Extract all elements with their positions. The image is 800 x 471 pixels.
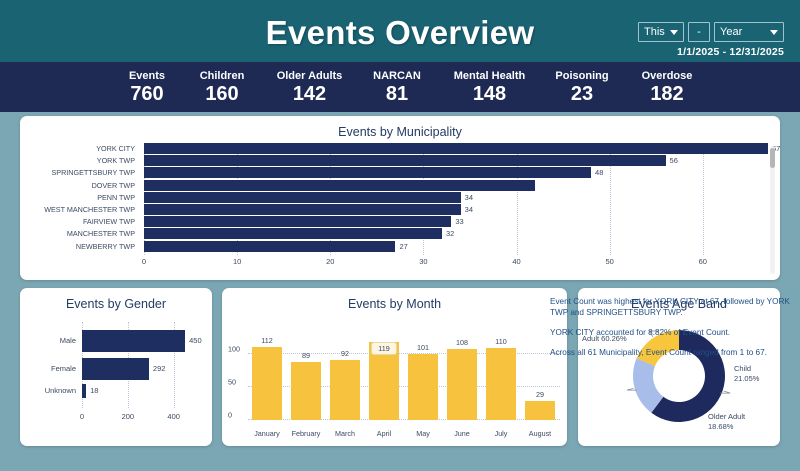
bar-value-label: 48 (595, 167, 603, 178)
category-label: YORK CITY (20, 143, 135, 154)
chevron-down-icon (670, 30, 678, 35)
category-label: MANCHESTER TWP (20, 228, 135, 239)
kpi-strip: Events760Children160Older Adults142NARCA… (0, 62, 800, 112)
bar[interactable] (144, 192, 461, 203)
municipality-scrollbar-thumb[interactable] (770, 148, 775, 168)
bar-value-label: 101 (408, 343, 438, 352)
bar[interactable] (330, 360, 360, 420)
bar[interactable] (291, 362, 321, 420)
bar-value-label: 56 (670, 155, 678, 166)
bar-value-label: 29 (525, 390, 555, 399)
bar[interactable] (144, 180, 535, 191)
unit-selector-value: Year (720, 26, 742, 38)
gender-bar-chart[interactable]: 0200400Male450Female292Unknown18 (20, 316, 212, 446)
donut-label-line: 21.05% (734, 374, 780, 384)
category-label: FAIRVIEW TWP (20, 216, 135, 227)
municipality-bar-chart[interactable]: 0102030405060YORK CITY67YORK TWP56SPRING… (20, 143, 780, 280)
donut-label-line: Older Adult (708, 412, 780, 422)
axis-tick-label: 20 (326, 257, 334, 266)
bar-value-label: 112 (252, 336, 282, 345)
bar-value-label: 450 (189, 336, 202, 345)
bar-value-label: 33 (455, 216, 463, 227)
bar-value-label: 34 (465, 192, 473, 203)
axis-tick-label: 30 (419, 257, 427, 266)
kpi-label: NARCAN (357, 69, 437, 83)
axis-tick-label: 0 (228, 411, 232, 420)
category-label: WEST MANCHESTER TWP (20, 204, 135, 215)
kpi-children: Children160 (182, 69, 262, 106)
kpi-value: 760 (112, 83, 182, 106)
bar[interactable] (252, 347, 282, 420)
municipality-bar-row[interactable]: NEWBERRY TWP27 (20, 241, 780, 252)
bar-value-label: 108 (447, 338, 477, 347)
bar[interactable] (144, 155, 666, 166)
events-by-gender-card: Events by Gender 0200400Male450Female292… (20, 288, 212, 446)
dashboard-header: Events Overview This - Year 1/1/2025 - 1… (0, 0, 800, 62)
bar-value-label: 92 (330, 349, 360, 358)
category-label: NEWBERRY TWP (20, 241, 135, 252)
category-label: YORK TWP (20, 155, 135, 166)
axis-tick-label: 40 (512, 257, 520, 266)
category-label: SPRINGETTSBURY TWP (20, 167, 135, 178)
category-label: DOVER TWP (20, 180, 135, 191)
bar-value-label: 110 (486, 337, 516, 346)
events-by-municipality-card: Events by Municipality 0102030405060YORK… (20, 116, 780, 280)
axis-tick-label: 50 (228, 378, 236, 387)
category-label: Female (22, 364, 76, 373)
card-title: Events by Municipality (20, 116, 780, 139)
donut-label-line: 18.68% (708, 422, 780, 432)
axis-tick-label: 400 (167, 412, 180, 421)
donut-label-older-adult: Older Adult18.68% (708, 412, 780, 431)
category-label: Unknown (22, 386, 76, 395)
kpi-value: 142 (262, 83, 357, 106)
period-selector-value: This (644, 26, 665, 38)
bar[interactable] (82, 358, 149, 380)
kpi-overdose: Overdose182 (622, 69, 712, 106)
municipality-bar-row[interactable]: MANCHESTER TWP32 (20, 228, 780, 239)
card-title: Events by Month (222, 288, 567, 311)
insight-paragraph: YORK CITY accounted for 8.82% of Event C… (550, 327, 790, 338)
municipality-bar-row[interactable]: YORK TWP56 (20, 155, 780, 166)
bar[interactable] (486, 348, 516, 420)
municipality-scrollbar[interactable] (770, 146, 775, 274)
bar[interactable] (408, 354, 438, 420)
bar[interactable] (144, 241, 395, 252)
insight-paragraph: Event Count was highest for YORK CITY at… (550, 296, 790, 318)
bar[interactable] (144, 216, 451, 227)
bar[interactable] (144, 143, 768, 154)
bar-value-label: 18 (90, 386, 98, 395)
axis-tick-label: 10 (233, 257, 241, 266)
card-title: Events by Gender (20, 288, 212, 311)
kpi-older-adults: Older Adults142 (262, 69, 357, 106)
category-label: Male (22, 336, 76, 345)
bar-value-label: 34 (465, 204, 473, 215)
bar[interactable] (144, 228, 442, 239)
bar[interactable] (525, 401, 555, 420)
municipality-bar-row[interactable]: YORK CITY67 (20, 143, 780, 154)
kpi-value: 182 (622, 83, 712, 106)
kpi-label: Events (112, 69, 182, 83)
insight-paragraph: Across all 61 Municipality, Event Count … (550, 347, 790, 358)
bar-value-label-highlighted: 119 (371, 342, 397, 355)
axis-tick-label: 50 (605, 257, 613, 266)
bar[interactable] (447, 349, 477, 420)
kpi-label: Poisoning (542, 69, 622, 83)
bar[interactable] (144, 167, 591, 178)
period-selector-dropdown[interactable]: This (638, 22, 684, 42)
municipality-insight-text: Event Count was highest for YORK CITY at… (550, 296, 790, 367)
municipality-bar-row[interactable]: PENN TWP34 (20, 192, 780, 203)
events-by-month-card: Events by Month 050100112January89Februa… (222, 288, 567, 446)
axis-tick-label: 0 (80, 412, 84, 421)
bar-value-label: 32 (446, 228, 454, 239)
municipality-bar-row[interactable]: FAIRVIEW TWP33 (20, 216, 780, 227)
kpi-poisoning: Poisoning23 (542, 69, 622, 106)
axis-tick-label: 200 (122, 412, 135, 421)
date-range-label: 1/1/2025 - 12/31/2025 (677, 46, 784, 58)
chevron-down-icon (770, 30, 778, 35)
kpi-value: 160 (182, 83, 262, 106)
bar[interactable] (82, 384, 86, 398)
municipality-bar-row[interactable]: WEST MANCHESTER TWP34 (20, 204, 780, 215)
date-range-separator: - (688, 22, 710, 42)
bar-value-label: 27 (399, 241, 407, 252)
kpi-events: Events760 (112, 69, 182, 106)
municipality-bar-row[interactable]: DOVER TWP (20, 180, 780, 191)
kpi-value: 23 (542, 83, 622, 106)
month-bar-chart[interactable]: 050100112January89February92March119Apri… (222, 314, 567, 446)
kpi-mental-health: Mental Health148 (437, 69, 542, 106)
date-filter-controls: This - Year (638, 22, 784, 42)
municipality-bar-row[interactable]: SPRINGETTSBURY TWP48 (20, 167, 780, 178)
bar[interactable] (82, 330, 185, 352)
axis-tick-label: 0 (142, 257, 146, 266)
kpi-label: Older Adults (262, 69, 357, 83)
bar-value-label: 89 (291, 351, 321, 360)
axis-tick-label: 100 (228, 345, 240, 354)
category-label: August (517, 429, 563, 438)
axis-tick-label: 60 (699, 257, 707, 266)
kpi-value: 148 (437, 83, 542, 106)
kpi-value: 81 (357, 83, 437, 106)
kpi-label: Children (182, 69, 262, 83)
category-label: PENN TWP (20, 192, 135, 203)
kpi-label: Mental Health (437, 69, 542, 83)
bar[interactable] (144, 204, 461, 215)
unit-selector-dropdown[interactable]: Year (714, 22, 784, 42)
date-range-separator-label: - (697, 26, 701, 38)
kpi-label: Overdose (622, 69, 712, 83)
bar-value-label: 292 (153, 364, 166, 373)
kpi-narcan: NARCAN81 (357, 69, 437, 106)
